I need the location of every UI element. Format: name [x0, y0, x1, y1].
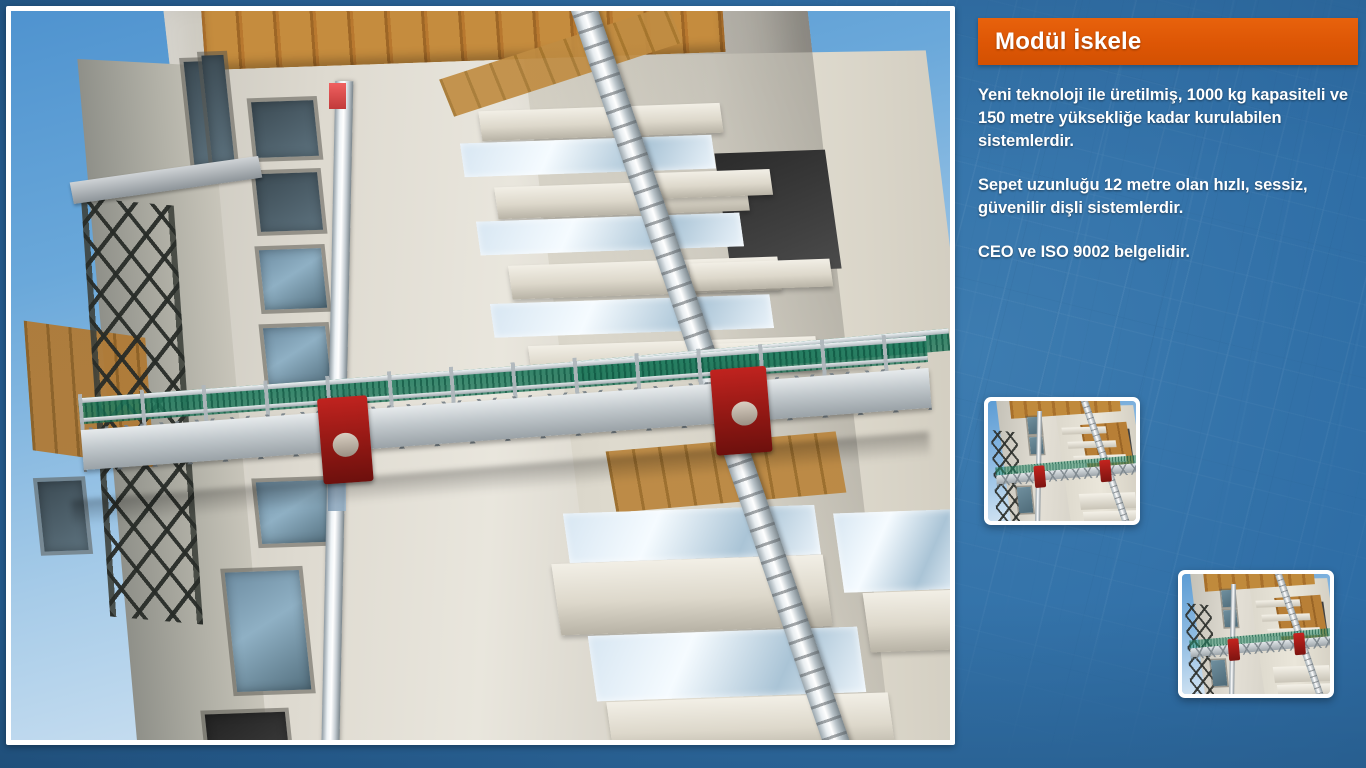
facade-window [205, 712, 290, 740]
thumbnail-1-image [988, 401, 1136, 521]
thumbnail-2[interactable] [1178, 570, 1334, 698]
hoist-motor-right [1099, 459, 1112, 482]
paragraph-2: Sepet uzunluğu 12 metre olan hızlı, sess… [978, 174, 1350, 220]
facade-window [225, 570, 312, 692]
balcony-slab [689, 259, 834, 292]
section-title-bar: Modül İskele [978, 18, 1358, 65]
parapet [863, 590, 950, 653]
facade-window [251, 100, 319, 158]
facade-window [1211, 660, 1228, 686]
glazing-panel [833, 509, 950, 592]
glazing-panel [1273, 665, 1330, 683]
description-block: Yeni teknoloji ile üretilmiş, 1000 kg ka… [978, 84, 1350, 265]
main-photo-frame[interactable] [6, 6, 955, 745]
glazing-panel [1079, 492, 1136, 510]
facade-window [255, 172, 323, 232]
page-title: Modül İskele [978, 28, 1141, 56]
thumbnail-1[interactable] [984, 397, 1140, 525]
hoist-motor-left [1033, 465, 1046, 488]
facade-window [1017, 487, 1034, 513]
slide-root: Modül İskele Yeni teknoloji ile üretilmi… [0, 0, 1366, 768]
paragraph-3: CEO ve ISO 9002 belgelidir. [978, 241, 1350, 264]
paragraph-1: Yeni teknoloji ile üretilmiş, 1000 kg ka… [978, 84, 1350, 153]
hoist-motor-right [1293, 632, 1306, 655]
hoist-motor-left [1227, 638, 1240, 661]
vertical-mast-cap [329, 83, 346, 109]
facade-window [259, 248, 327, 310]
thumbnail-2-image [1182, 574, 1330, 694]
main-photo [11, 11, 950, 740]
balcony-slab [649, 169, 773, 199]
